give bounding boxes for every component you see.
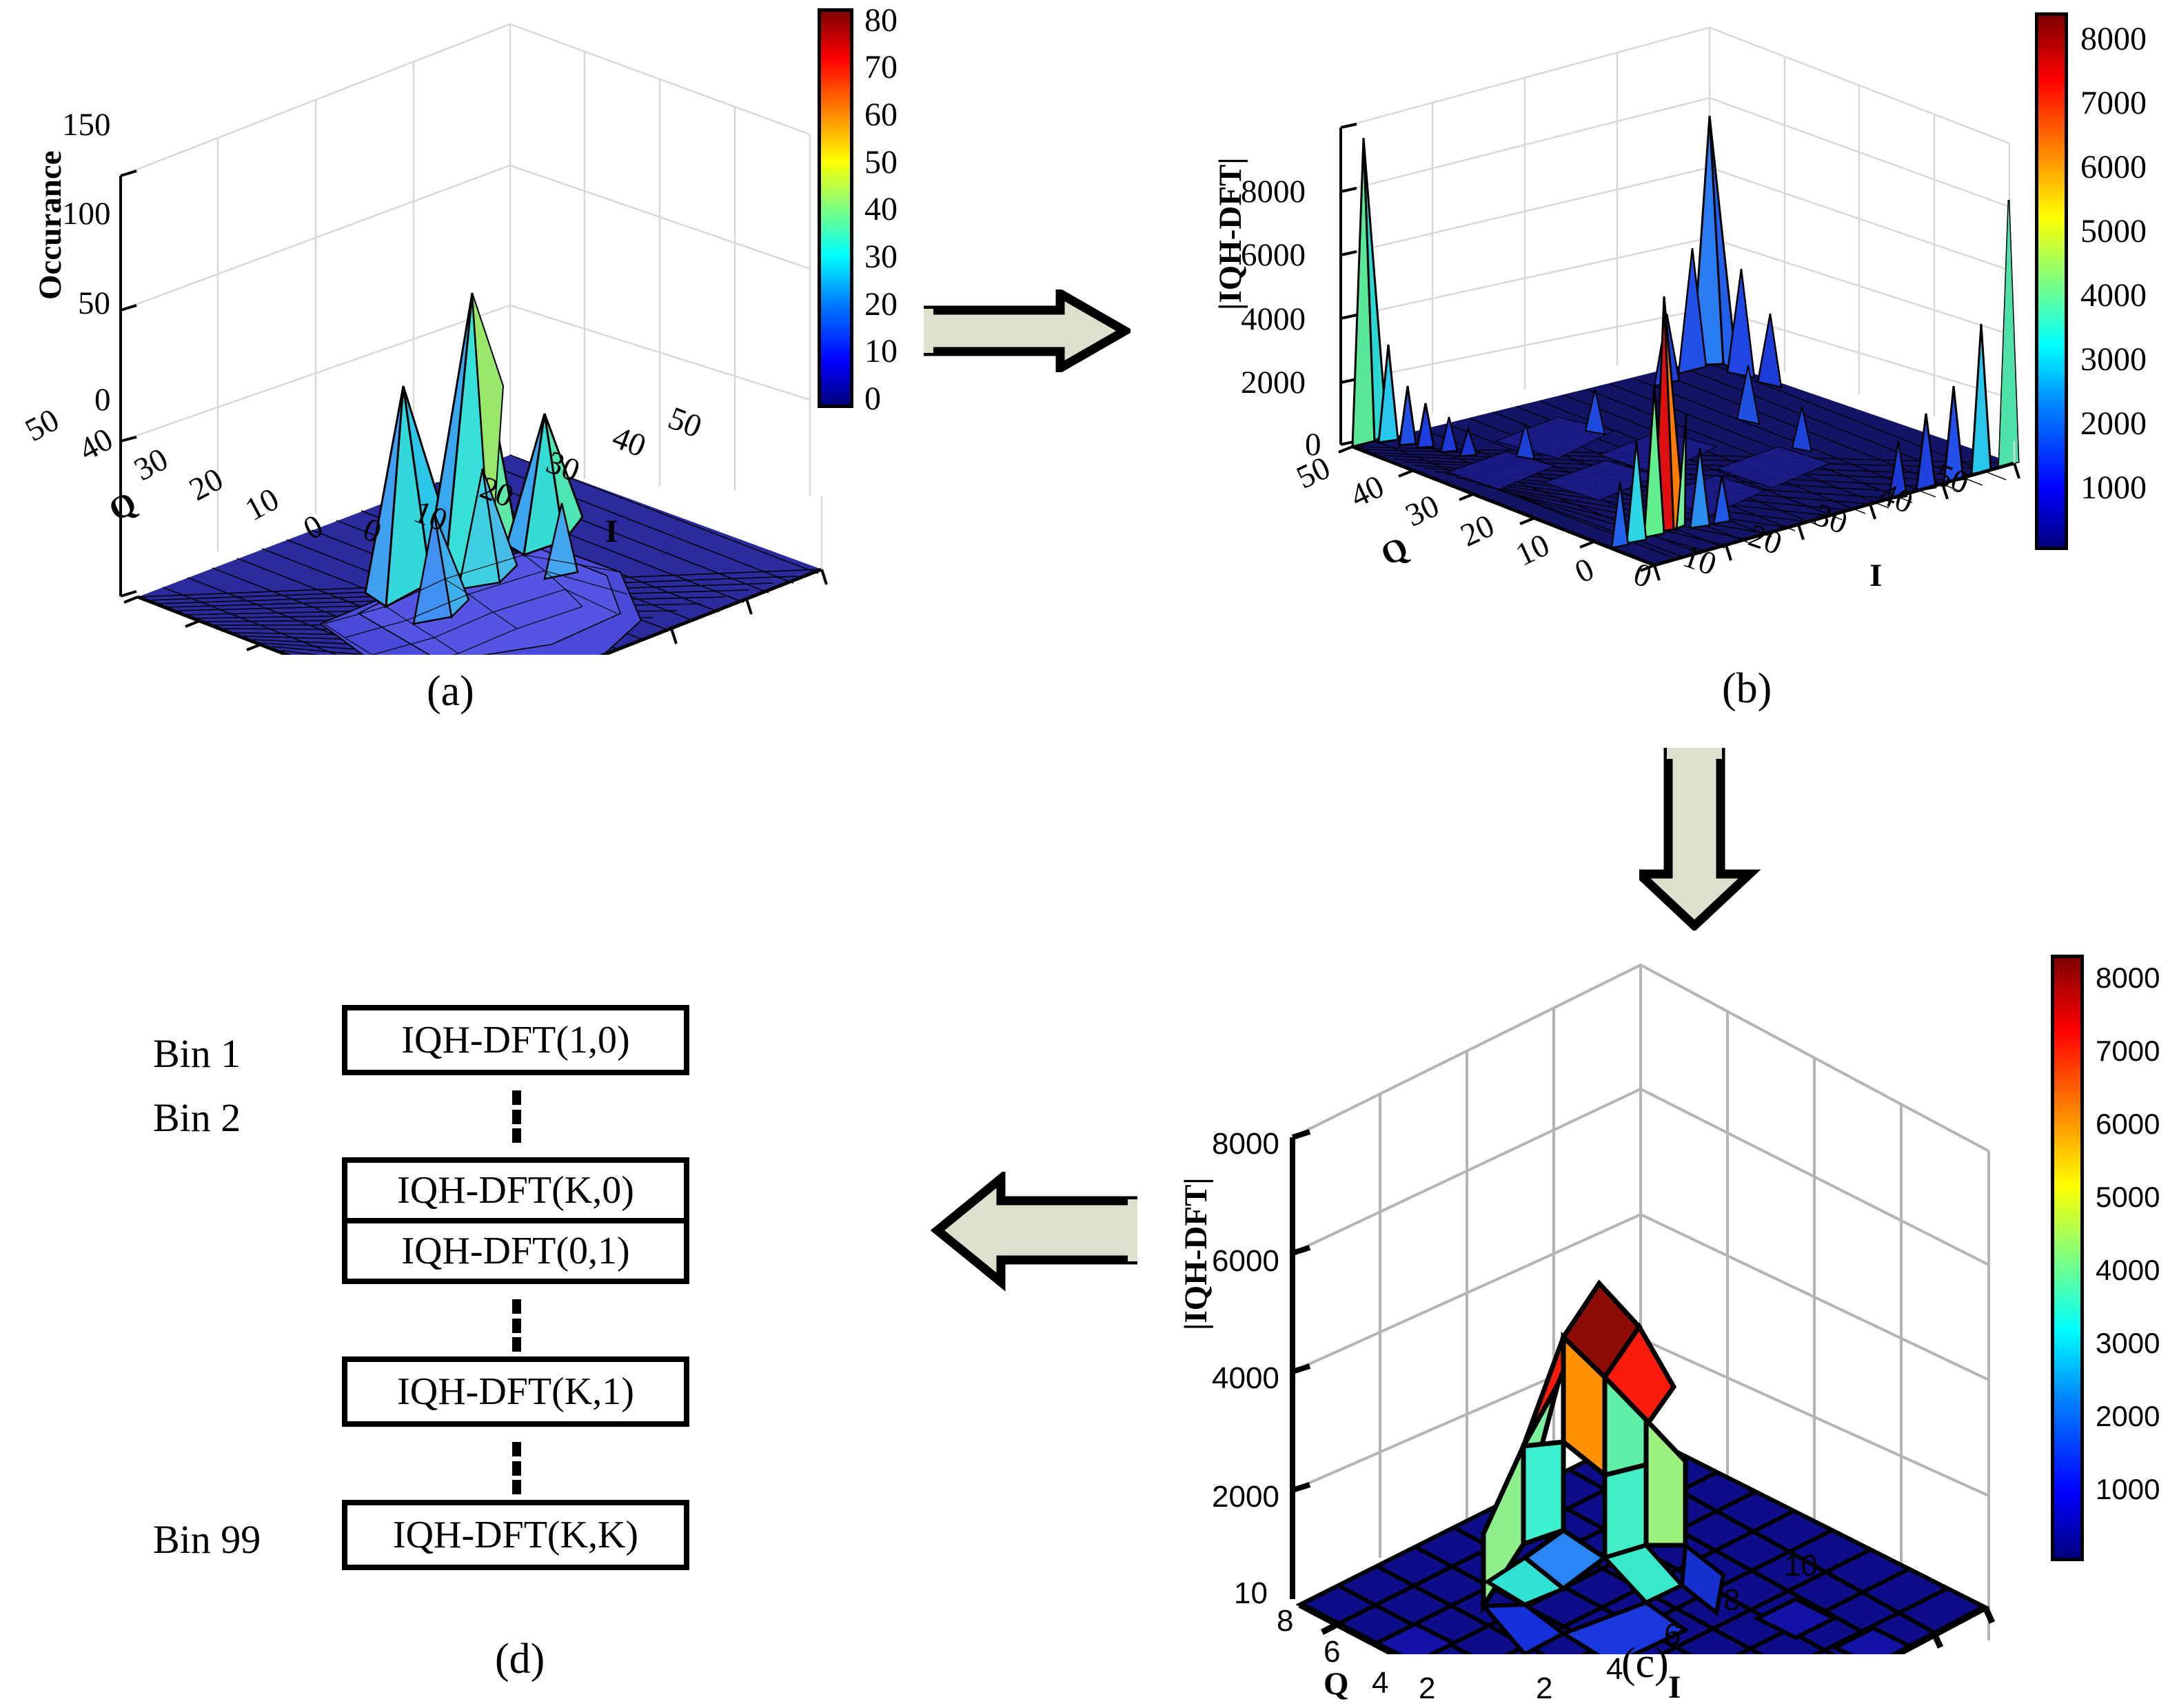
panel-c-colorbar xyxy=(2051,955,2084,1561)
panel-a-zaxis-label: Occurance xyxy=(34,150,67,300)
ellipsis-2 xyxy=(511,1299,521,1352)
panel-c-cbtick-4000: 4000 xyxy=(2096,1256,2160,1285)
ellipsis-1 xyxy=(511,1090,521,1143)
panel-b-cbtick-3000: 3000 xyxy=(2080,343,2147,376)
panel-b-ztick-4000: 4000 xyxy=(1241,303,1306,336)
panel-b-cbtick-7000: 7000 xyxy=(2080,87,2147,120)
arrow-b-to-c xyxy=(1639,748,1763,931)
panel-c-ytick-6: 6 xyxy=(1324,1637,1340,1667)
panel-b-ztick-8000: 8000 xyxy=(1241,176,1306,208)
panel-c-xtick-8: 8 xyxy=(1723,1585,1740,1616)
panel-a-xaxis-label: I xyxy=(605,516,618,548)
panel-c-ytick-10: 10 xyxy=(1234,1578,1268,1609)
panel-c-xaxis-label: I xyxy=(1668,1671,1681,1704)
panel-c-ytick-4: 4 xyxy=(1372,1668,1388,1698)
panel-a-cbtick-10: 10 xyxy=(864,335,898,368)
panel-b-ztick-6000: 6000 xyxy=(1241,239,1306,272)
panel-a-cbtick-80: 80 xyxy=(864,4,898,37)
panel-c-ztick-2000: 2000 xyxy=(1212,1482,1279,1512)
panel-c-ztick-4000: 4000 xyxy=(1212,1363,1279,1394)
panel-b-xaxis-label: I xyxy=(1869,560,1882,592)
panel-b-ztick-2000: 2000 xyxy=(1241,367,1306,399)
panel-b-caption: (b) xyxy=(1722,667,1772,710)
ellipsis-3 xyxy=(511,1442,521,1494)
panel-c-cbtick-8000: 8000 xyxy=(2096,964,2160,993)
panel-a-caption: (a) xyxy=(427,670,474,713)
panel-a-cbtick-30: 30 xyxy=(864,241,898,274)
panel-b-colorbar xyxy=(2035,12,2068,550)
panel-a-cbtick-60: 60 xyxy=(864,99,898,132)
panel-c-cbtick-3000: 3000 xyxy=(2096,1329,2160,1358)
panel-b-cbtick-1000: 1000 xyxy=(2080,471,2147,505)
panel-c-ztick-8000: 8000 xyxy=(1212,1129,1279,1159)
panel-d-caption: (d) xyxy=(495,1638,545,1680)
panel-b-cbtick-5000: 5000 xyxy=(2080,215,2147,248)
bin-box-1[interactable]: IQH-DFT(1,0) xyxy=(342,1005,689,1075)
panel-c-cbtick-5000: 5000 xyxy=(2096,1183,2160,1212)
panel-a-ztick-150: 150 xyxy=(62,109,111,141)
panel-b-cbtick-8000: 8000 xyxy=(2080,23,2147,56)
bin-box-K0[interactable]: IQH-DFT(K,0) xyxy=(342,1157,689,1223)
bin-box-K1[interactable]: IQH-DFT(K,1) xyxy=(342,1356,689,1427)
bin-label-1: Bin 1 xyxy=(153,1030,241,1077)
panel-a-ztick-50: 50 xyxy=(78,287,110,320)
bin-label-99: Bin 99 xyxy=(153,1516,261,1563)
panel-c-zaxis-label: |IQH-DFT| xyxy=(1180,1177,1213,1330)
panel-c-caption: (c) xyxy=(1621,1642,1669,1685)
panel-a-cbtick-20: 20 xyxy=(864,288,898,321)
arrow-a-to-b xyxy=(924,289,1131,372)
panel-b-plot xyxy=(1172,0,2082,662)
bin-box-KK[interactable]: IQH-DFT(K,K) xyxy=(342,1500,689,1570)
panel-a-cbtick-50: 50 xyxy=(864,146,898,179)
panel-c-yaxis-label: Q xyxy=(1324,1668,1349,1700)
panel-c-ztick-6000: 6000 xyxy=(1212,1246,1279,1277)
panel-c-ytick-8: 8 xyxy=(1277,1606,1293,1636)
panel-b-cbtick-2000: 2000 xyxy=(2080,407,2147,440)
bin-box-01[interactable]: IQH-DFT(0,1) xyxy=(342,1218,689,1284)
panel-c-xtick-10: 10 xyxy=(1784,1551,1818,1581)
panel-c-cbtick-6000: 6000 xyxy=(2096,1110,2160,1139)
panel-c-xtick-2: 2 xyxy=(1536,1674,1552,1704)
panel-c-cbtick-1000: 1000 xyxy=(2096,1475,2160,1504)
panel-b-cbtick-4000: 4000 xyxy=(2080,279,2147,312)
panel-a-ztick-0: 0 xyxy=(94,384,111,416)
panel-c-xtick-4: 4 xyxy=(1606,1654,1623,1685)
panel-c-cbtick-2000: 2000 xyxy=(2096,1402,2160,1431)
panel-a-plot xyxy=(0,0,896,655)
bin-label-2: Bin 2 xyxy=(153,1095,241,1141)
panel-a-ztick-100: 100 xyxy=(62,198,111,230)
arrow-c-to-d xyxy=(931,1172,1137,1296)
panel-b-cbtick-6000: 6000 xyxy=(2080,151,2147,184)
panel-b-zaxis-label: |IQH-DFT| xyxy=(1215,157,1247,310)
panel-c-ytick-2: 2 xyxy=(1419,1674,1435,1704)
panel-a-cbtick-70: 70 xyxy=(864,51,898,84)
panel-a-cbtick-0: 0 xyxy=(864,383,881,416)
panel-a-cbtick-40: 40 xyxy=(864,193,898,226)
panel-c-cbtick-7000: 7000 xyxy=(2096,1037,2160,1066)
panel-a-colorbar xyxy=(818,8,853,408)
panel-c-plot xyxy=(1172,951,2082,1654)
